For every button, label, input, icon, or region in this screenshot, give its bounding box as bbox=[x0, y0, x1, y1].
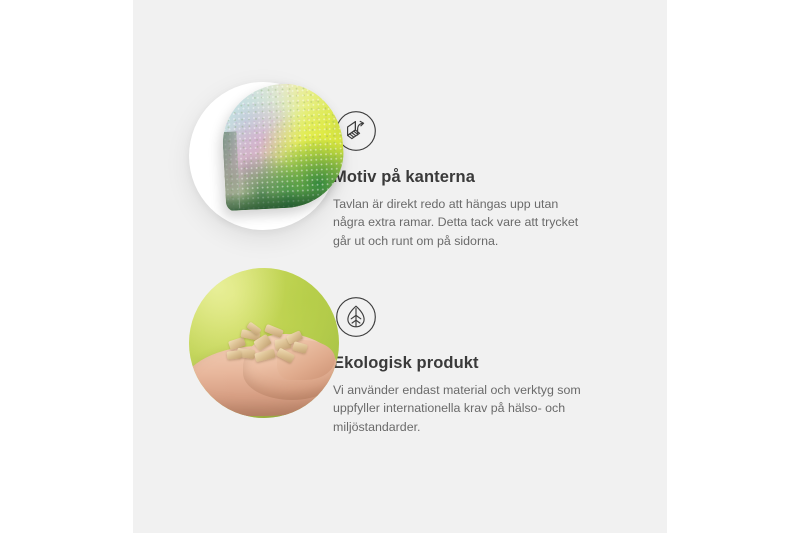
feature-description: Tavlan är direkt redo att hängas upp uta… bbox=[333, 195, 585, 250]
feature-text-block: Motiv på kanterna Tavlan är direkt redo … bbox=[333, 62, 623, 250]
canvas-print-photo bbox=[220, 81, 346, 211]
wood-chips-photo bbox=[189, 268, 339, 418]
feature-title: Motiv på kanterna bbox=[333, 168, 623, 188]
feature-text-block: Ekologisk produkt Vi använder endast mat… bbox=[333, 248, 623, 436]
feature-title: Ekologisk produkt bbox=[333, 354, 623, 374]
feature-description: Vi använder endast material och verktyg … bbox=[333, 381, 585, 436]
product-feature-banner: Motiv på kanterna Tavlan är direkt redo … bbox=[0, 0, 800, 533]
feature-row-canvas-edges: Motiv på kanterna Tavlan är direkt redo … bbox=[133, 62, 623, 250]
feature-image-wood-chips bbox=[133, 248, 333, 434]
leaf-icon bbox=[333, 294, 379, 340]
right-white-band bbox=[667, 0, 800, 533]
feature-row-eco-product: Ekologisk produkt Vi använder endast mat… bbox=[133, 248, 623, 436]
left-white-band bbox=[0, 0, 133, 533]
feature-image-canvas-print bbox=[133, 62, 333, 248]
wood-chip-pile bbox=[225, 325, 309, 367]
